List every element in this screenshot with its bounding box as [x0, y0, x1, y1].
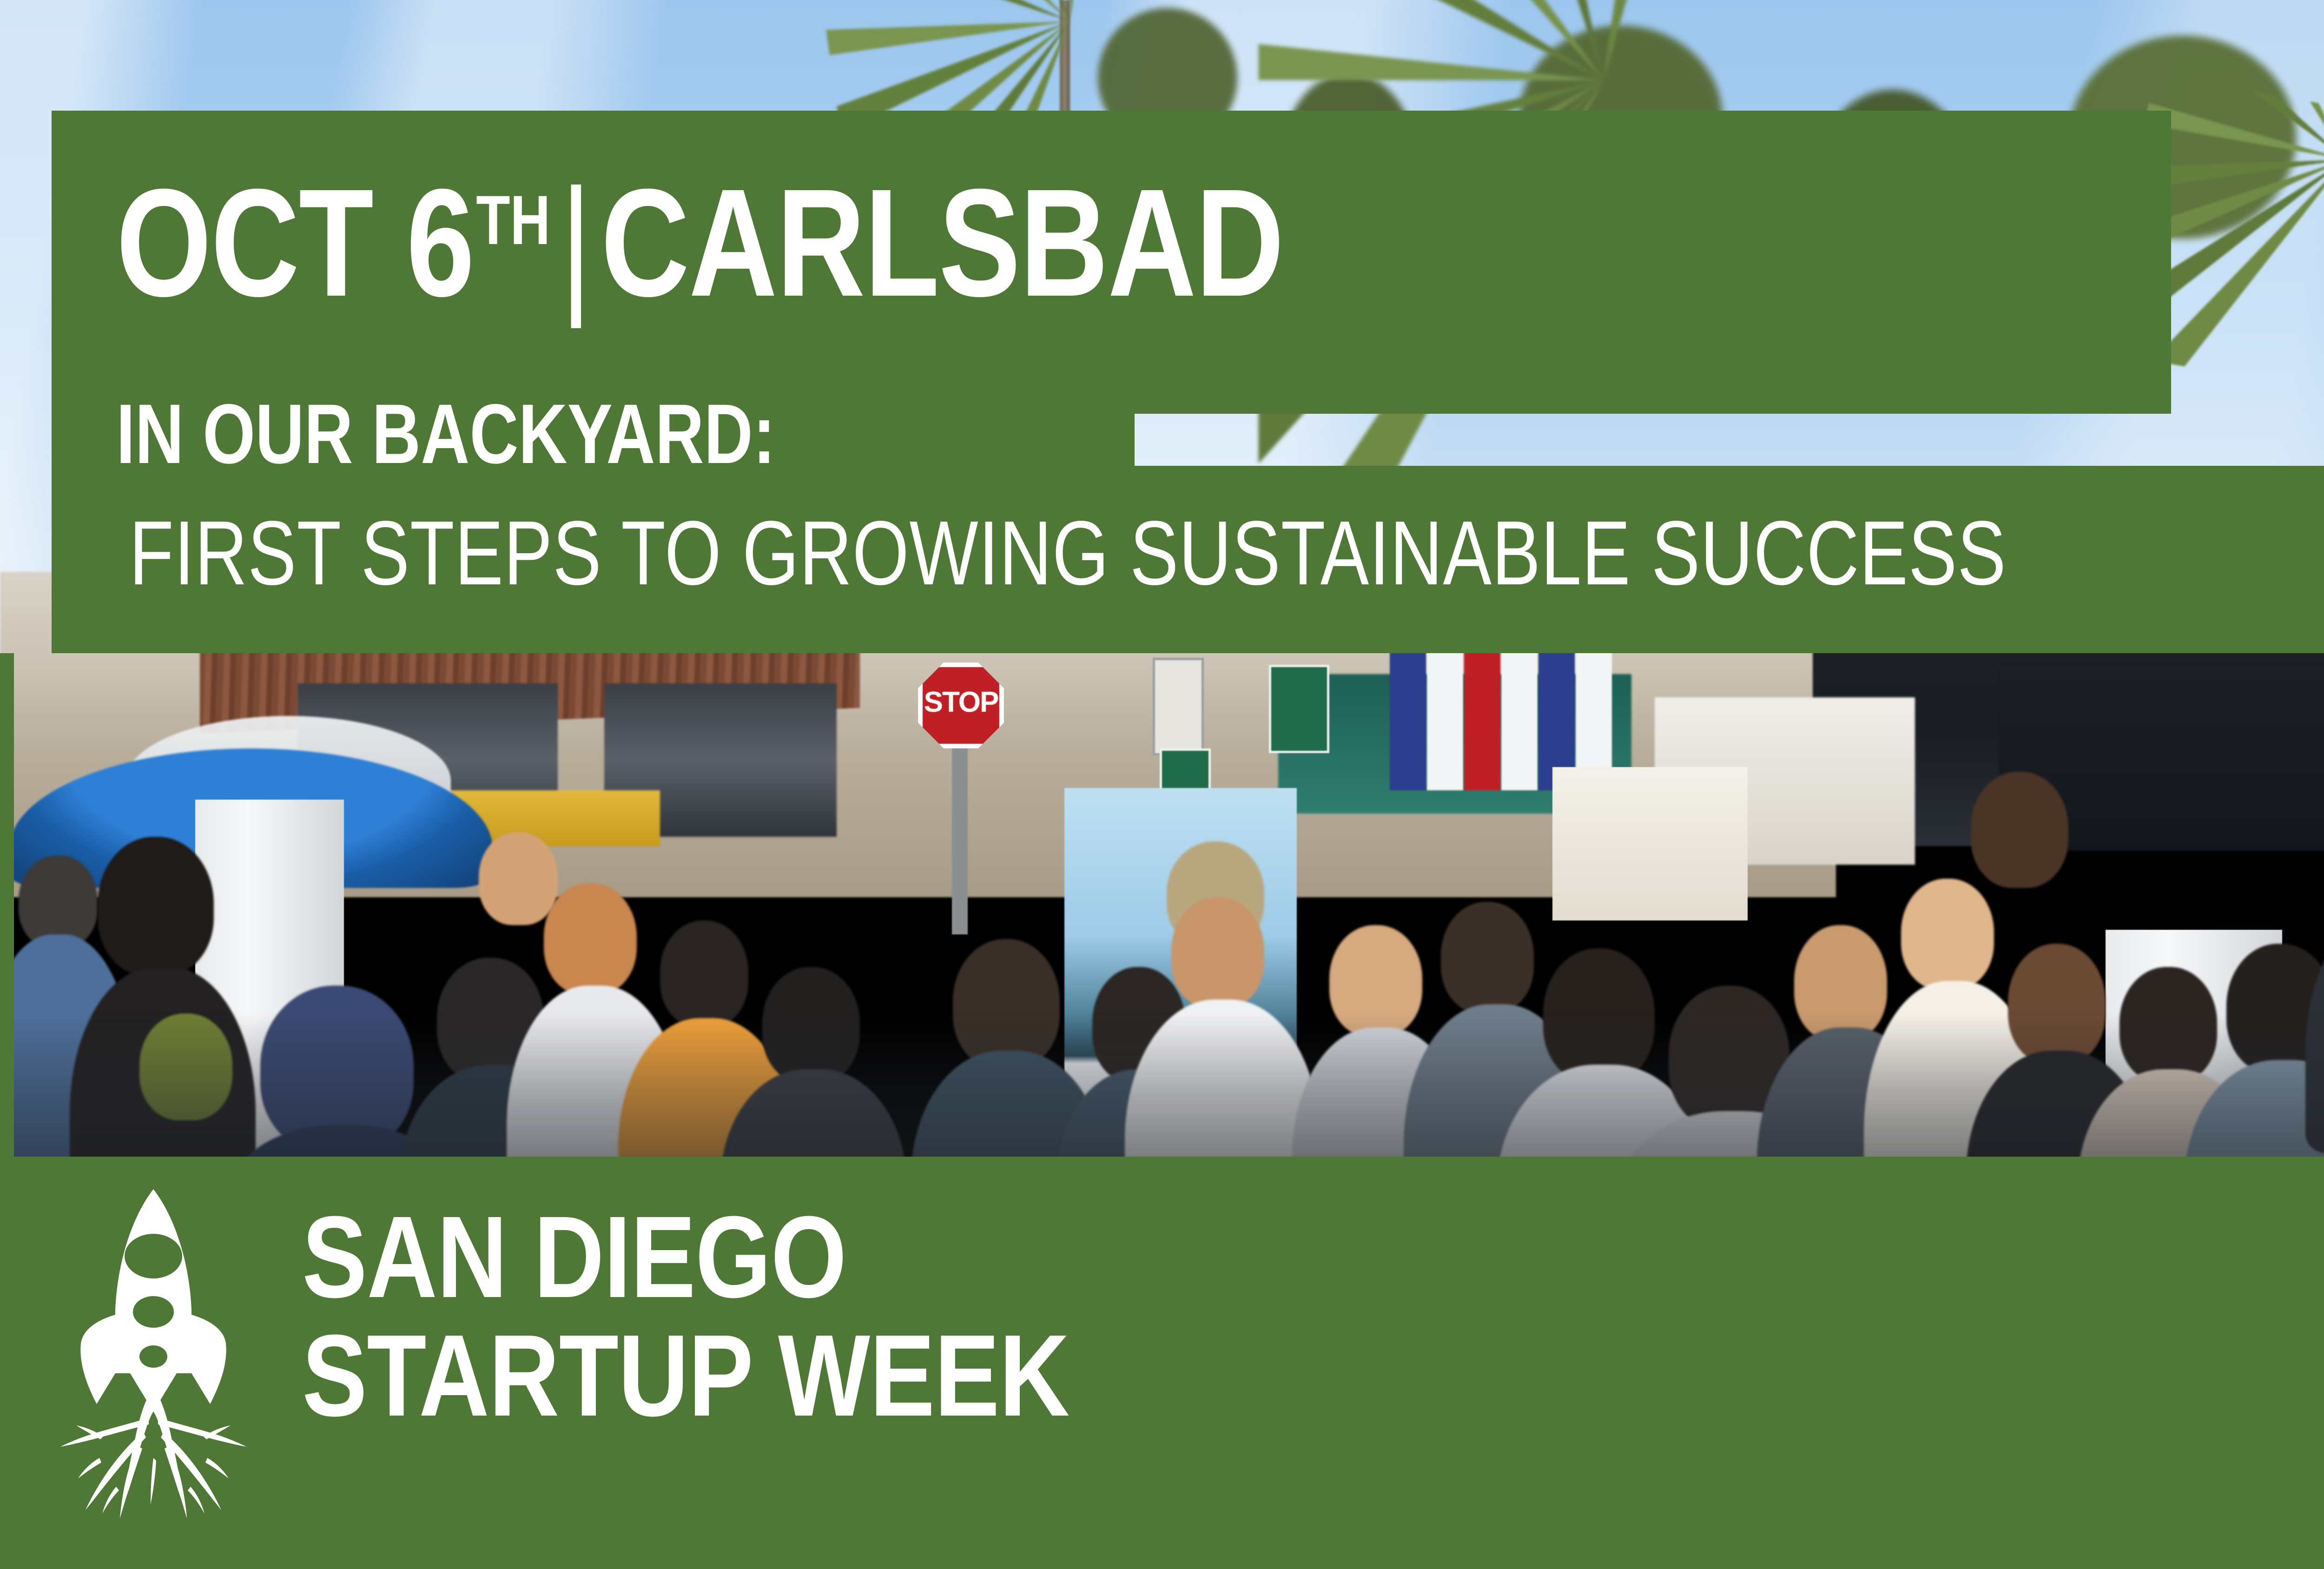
- headline-location: CARLSBAD: [601, 157, 1283, 328]
- rocket-with-roots-icon: [60, 1185, 246, 1520]
- logo-wordmark: SAN DIEGO STARTUP WEEK: [302, 1198, 1070, 1435]
- headline-date: OCT 6: [116, 157, 474, 328]
- event-promo-graphic: STOP: [0, 0, 2324, 1569]
- kicker-text: IN OUR BACKYARD:: [116, 399, 1232, 469]
- subtitle-text: FIRST STEPS TO GROWING SUSTAINABLE SUCCE…: [129, 509, 2324, 597]
- headline-ordinal: TH: [476, 181, 550, 259]
- stop-sign-label: STOP: [918, 688, 1004, 717]
- logo-line-2: STARTUP WEEK: [302, 1316, 1070, 1435]
- logo-line-1: SAN DIEGO: [302, 1192, 846, 1322]
- brand-logo: SAN DIEGO STARTUP WEEK: [60, 1185, 1408, 1529]
- left-edge-band: [0, 653, 14, 1157]
- page-title: OCT 6TH|CARLSBAD: [116, 148, 1715, 292]
- headline-separator: |: [560, 157, 591, 328]
